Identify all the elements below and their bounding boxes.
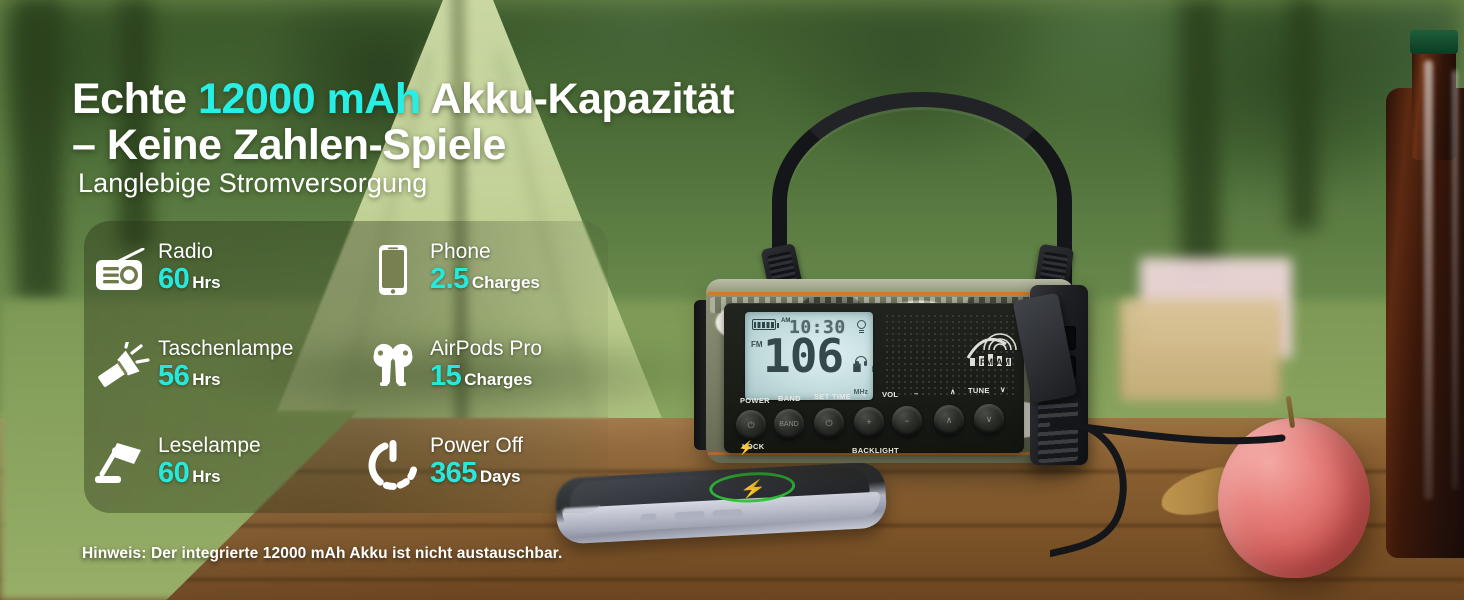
- footnote: Hinweis: Der integrierte 12000 mAh Akku …: [82, 545, 562, 563]
- phone-icon: [362, 239, 424, 301]
- volume-up-button[interactable]: +: [854, 407, 884, 437]
- subtitle: Langlebige Stromversorgung: [78, 168, 427, 199]
- stat-flashlight: Taschenlampe 56Hrs: [84, 318, 356, 415]
- stat-title: Taschenlampe: [158, 337, 293, 361]
- backlight-sublabel: BACKLIGHT: [852, 446, 899, 455]
- phone-mute-switch: [640, 513, 656, 521]
- headline-accent: 12000 mAh: [198, 75, 421, 123]
- stat-title: Power Off: [430, 434, 523, 458]
- stat-number: 56: [158, 360, 189, 392]
- headline-part2: Akku-Kapazität: [421, 75, 734, 123]
- tune-up-label: ∧: [950, 387, 956, 396]
- product-banner: ⚡ AM 10:30 FM 106.20 MHz: [0, 0, 1464, 600]
- bottle-highlight: [1424, 60, 1433, 500]
- vol-down-label: –: [914, 389, 918, 398]
- stat-text: Radio 60Hrs: [158, 240, 221, 299]
- stat-number: 60: [158, 457, 189, 489]
- stat-text: Phone 2.5Charges: [430, 240, 540, 299]
- stat-unit: Hrs: [192, 370, 220, 389]
- bottle-highlight: [1452, 70, 1458, 490]
- stat-number: 15: [430, 360, 461, 392]
- tree-trunk: [16, 0, 62, 300]
- charging-cable: [1050, 418, 1290, 578]
- tune-down-button[interactable]: ∨: [974, 404, 1004, 434]
- stat-unit: Days: [480, 467, 521, 486]
- vol-label: VOL: [882, 390, 898, 399]
- lightning-bolt-icon: ⚡: [738, 440, 754, 456]
- lcd-band-label: FM: [751, 340, 763, 349]
- flashlight-icon: [90, 336, 152, 398]
- stat-unit: Hrs: [192, 467, 220, 486]
- stat-value-row: 60Hrs: [158, 264, 221, 299]
- power-button[interactable]: ⏻: [736, 410, 766, 440]
- tune-label: TUNE: [968, 386, 990, 395]
- stat-unit: Hrs: [192, 273, 220, 292]
- power-off-icon: [362, 433, 424, 495]
- stat-unit: Charges: [464, 370, 532, 389]
- volume-down-button[interactable]: −: [892, 406, 922, 436]
- tree-trunk: [1180, 0, 1220, 280]
- stat-unit: Charges: [472, 273, 540, 292]
- stat-title: Radio: [158, 240, 221, 264]
- set-time-button[interactable]: ⏻: [814, 408, 844, 438]
- orange-accent-trim: [708, 292, 1072, 295]
- radio-icon: [90, 239, 152, 301]
- stat-value-row: 56Hrs: [158, 361, 293, 396]
- stat-text: AirPods Pro 15Charges: [430, 337, 542, 396]
- set-time-button-label: SET TIME: [814, 392, 851, 401]
- tune-down-label: ∨: [1000, 385, 1006, 394]
- vol-up-label: +: [862, 390, 867, 399]
- lcd-display: AM 10:30 FM 106.20 MHz: [745, 312, 873, 400]
- stat-value-row: 2.5Charges: [430, 264, 540, 299]
- stat-value-row: 15Charges: [430, 361, 542, 396]
- headphone-icon: [855, 356, 867, 366]
- band-button-label: BAND: [778, 394, 801, 403]
- stat-power-off: Power Off 365Days: [356, 415, 614, 512]
- stat-airpods: AirPods Pro 15Charges: [356, 318, 614, 415]
- airpods-icon: [362, 336, 424, 398]
- tree-trunk: [1288, 0, 1318, 230]
- stat-text: Power Off 365Days: [430, 434, 523, 493]
- stat-number: 60: [158, 263, 189, 295]
- stat-title: Phone: [430, 240, 540, 264]
- bottle-neck: [1412, 40, 1456, 160]
- stat-desk-lamp: Leselampe 60Hrs: [84, 415, 356, 512]
- band-button[interactable]: BAND: [774, 409, 804, 439]
- headline-line2: – Keine Zahlen-Spiele: [72, 122, 832, 168]
- stat-text: Leselampe 60Hrs: [158, 434, 261, 493]
- stat-number: 2.5: [430, 263, 469, 295]
- stat-title: Leselampe: [158, 434, 261, 458]
- stat-title: AirPods Pro: [430, 337, 542, 361]
- svg-text:FM·AM: FM·AM: [980, 357, 1010, 367]
- charging-bolt-icon: ⚡: [739, 479, 767, 500]
- stat-radio: Radio 60Hrs: [84, 221, 356, 318]
- headline-part1: Echte: [72, 75, 198, 123]
- basket-weave-texture: [1120, 300, 1280, 400]
- tune-up-button[interactable]: ∧: [934, 405, 964, 435]
- stat-value-row: 60Hrs: [158, 458, 261, 493]
- power-button-label: POWER: [740, 396, 770, 405]
- stat-number: 365: [430, 457, 477, 489]
- stat-phone: Phone 2.5Charges: [356, 221, 614, 318]
- stats-grid: Radio 60Hrs Phone 2.5Charges: [84, 221, 614, 513]
- stat-text: Taschenlampe 56Hrs: [158, 337, 293, 396]
- page-title: Echte 12000 mAh Akku-Kapazität – Keine Z…: [72, 76, 832, 168]
- bulb-icon: [857, 320, 866, 332]
- stat-value-row: 365Days: [430, 458, 523, 493]
- bottle-cap: [1410, 30, 1458, 54]
- desk-lamp-icon: [90, 433, 152, 495]
